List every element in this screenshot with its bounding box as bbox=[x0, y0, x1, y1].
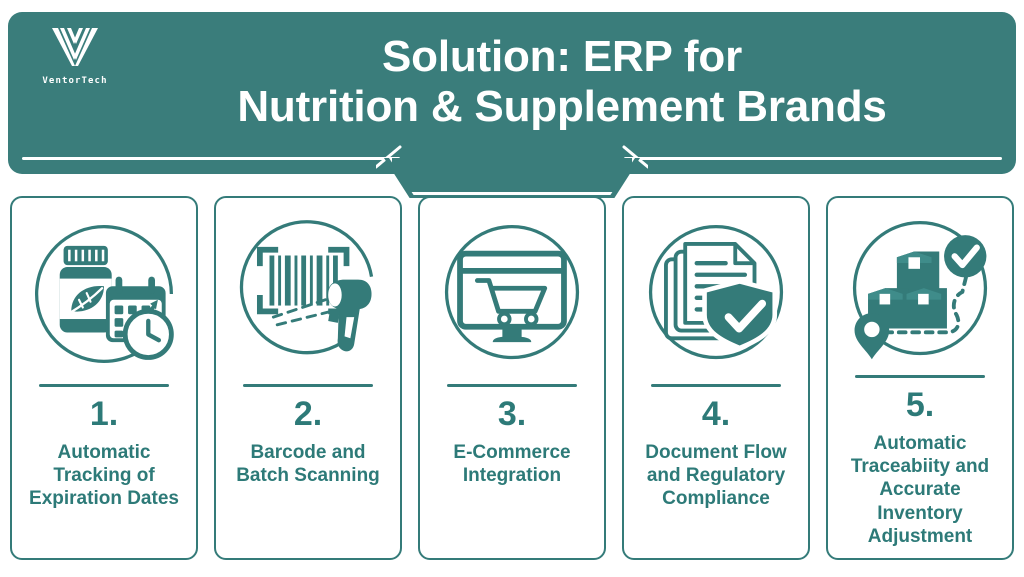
card-label-5: Automatic Traceabiity and Accurate Inven… bbox=[834, 432, 1006, 548]
card-number-5: 5. bbox=[906, 388, 934, 422]
header-center-tab-outline bbox=[389, 158, 635, 195]
solution-card-2[interactable]: 2. Barcode and Batch Scanning bbox=[214, 196, 402, 560]
card-label-1: Automatic Tracking of Expiration Dates bbox=[18, 441, 190, 511]
monitor-shopping-cart-icon bbox=[426, 206, 598, 382]
card-number-3: 3. bbox=[498, 397, 526, 431]
boxes-location-pin-check-icon bbox=[834, 206, 1006, 373]
solution-card-3[interactable]: 3. E-Commerce Integration bbox=[418, 196, 606, 560]
barcode-scanner-gun-icon bbox=[222, 206, 394, 382]
header-banner: VentorTech Solution: ERP for Nutrition &… bbox=[8, 12, 1016, 174]
solution-card-4[interactable]: 4. Document Flow and Regulatory Complian… bbox=[622, 196, 810, 560]
page-title-line-1: Solution: ERP for bbox=[382, 32, 742, 81]
page-title-line-2: Nutrition & Supplement Brands bbox=[148, 82, 976, 132]
solution-card-5[interactable]: 5. Automatic Traceabiity and Accurate In… bbox=[826, 196, 1014, 560]
card-divider-3 bbox=[447, 384, 578, 387]
solution-cards-row: 1. Automatic Tracking of Expiration Date… bbox=[10, 196, 1014, 560]
card-divider-1 bbox=[39, 384, 170, 387]
card-number-2: 2. bbox=[294, 397, 322, 431]
header-accent-line-left bbox=[22, 157, 400, 160]
card-divider-5 bbox=[855, 375, 986, 378]
page-title: Solution: ERP for Nutrition & Supplement… bbox=[148, 32, 976, 132]
card-label-3: E-Commerce Integration bbox=[426, 441, 598, 487]
supplement-bottle-calendar-clock-icon bbox=[18, 206, 190, 382]
card-divider-2 bbox=[243, 384, 374, 387]
card-divider-4 bbox=[651, 384, 782, 387]
card-number-1: 1. bbox=[90, 397, 118, 431]
solution-card-1[interactable]: 1. Automatic Tracking of Expiration Date… bbox=[10, 196, 198, 560]
documents-shield-check-icon bbox=[630, 206, 802, 382]
card-number-4: 4. bbox=[702, 397, 730, 431]
header-accent-line-right bbox=[624, 157, 1002, 160]
card-label-4: Document Flow and Regulatory Compliance bbox=[630, 441, 802, 511]
card-label-2: Barcode and Batch Scanning bbox=[222, 441, 394, 487]
